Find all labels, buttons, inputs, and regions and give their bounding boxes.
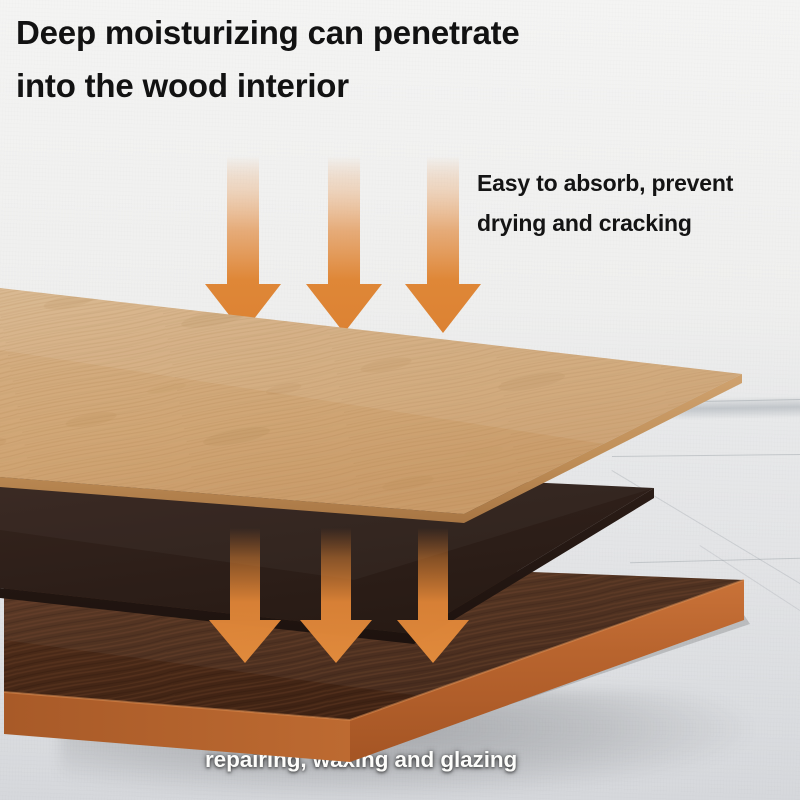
page-title: Deep moisturizing can penetrate into the… xyxy=(16,6,716,113)
callout-absorb-line-2: drying and cracking xyxy=(477,210,692,236)
callout-absorb-line-1: Easy to absorb, prevent xyxy=(477,170,733,196)
callout-absorb: Easy to absorb, prevent drying and crack… xyxy=(477,163,800,243)
headline-line-2: into the wood interior xyxy=(16,59,716,112)
arrow-down-bottom-2 xyxy=(300,528,372,663)
top-board-light-oak xyxy=(0,280,754,520)
arrow-group-bottom xyxy=(208,528,478,673)
infographic-canvas: Deep moisturizing can penetrate into the… xyxy=(0,0,800,800)
arrow-down-bottom-1 xyxy=(209,528,281,663)
headline-line-1: Deep moisturizing can penetrate xyxy=(16,14,520,51)
arrow-down-bottom-3 xyxy=(397,528,469,663)
